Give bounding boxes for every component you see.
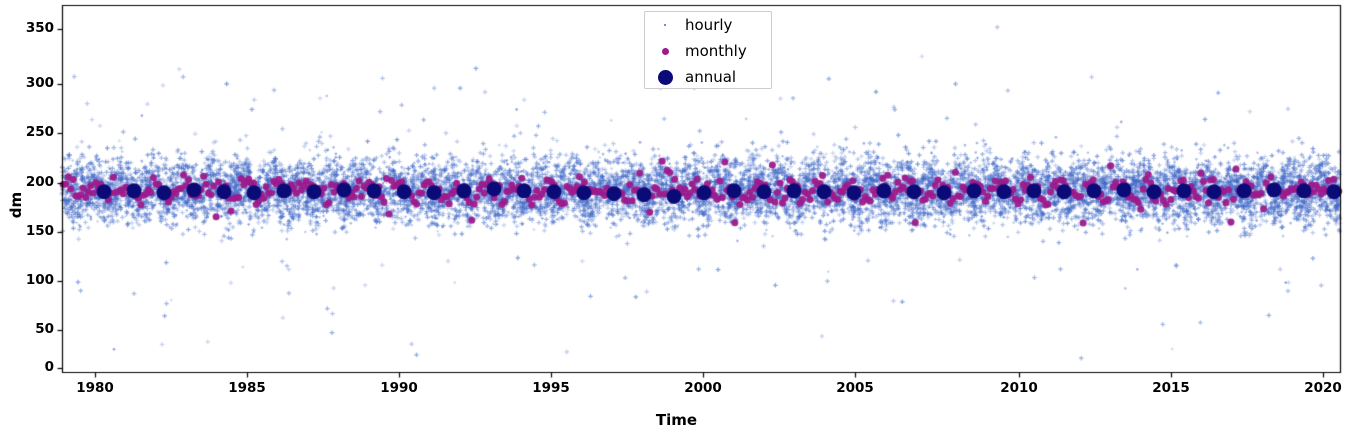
legend-label-monthly: monthly — [685, 38, 747, 64]
monthly-marker-icon — [645, 38, 685, 64]
x-tick-2005: 2005 — [815, 380, 895, 396]
annual-marker-icon — [645, 64, 685, 90]
x-tick-1995: 1995 — [511, 380, 591, 396]
hourly-marker-icon — [645, 12, 685, 38]
scatter-plot-figure: dm Time 350300250200150100500 1980198519… — [0, 0, 1353, 437]
y-tick-50: 50 — [8, 321, 54, 337]
legend-label-annual: annual — [685, 64, 736, 90]
x-tick-2020: 2020 — [1283, 380, 1353, 396]
y-tick-350: 350 — [8, 20, 54, 36]
y-tick-0: 0 — [8, 359, 54, 375]
y-tick-250: 250 — [8, 124, 54, 140]
x-axis-label: Time — [0, 411, 1353, 429]
y-tick-100: 100 — [8, 272, 54, 288]
y-tick-200: 200 — [8, 174, 54, 190]
legend-box: hourly monthly annual — [644, 11, 772, 89]
x-tick-2000: 2000 — [663, 380, 743, 396]
x-tick-1980: 1980 — [55, 380, 135, 396]
legend-entry-hourly: hourly — [645, 12, 773, 38]
x-tick-2010: 2010 — [979, 380, 1059, 396]
y-tick-300: 300 — [8, 75, 54, 91]
x-tick-1985: 1985 — [207, 380, 287, 396]
y-tick-150: 150 — [8, 223, 54, 239]
x-tick-2015: 2015 — [1131, 380, 1211, 396]
legend-label-hourly: hourly — [685, 12, 732, 38]
legend-entry-annual: annual — [645, 64, 773, 90]
legend-entry-monthly: monthly — [645, 38, 773, 64]
y-axis-label: dm — [7, 185, 25, 225]
x-tick-1990: 1990 — [359, 380, 439, 396]
